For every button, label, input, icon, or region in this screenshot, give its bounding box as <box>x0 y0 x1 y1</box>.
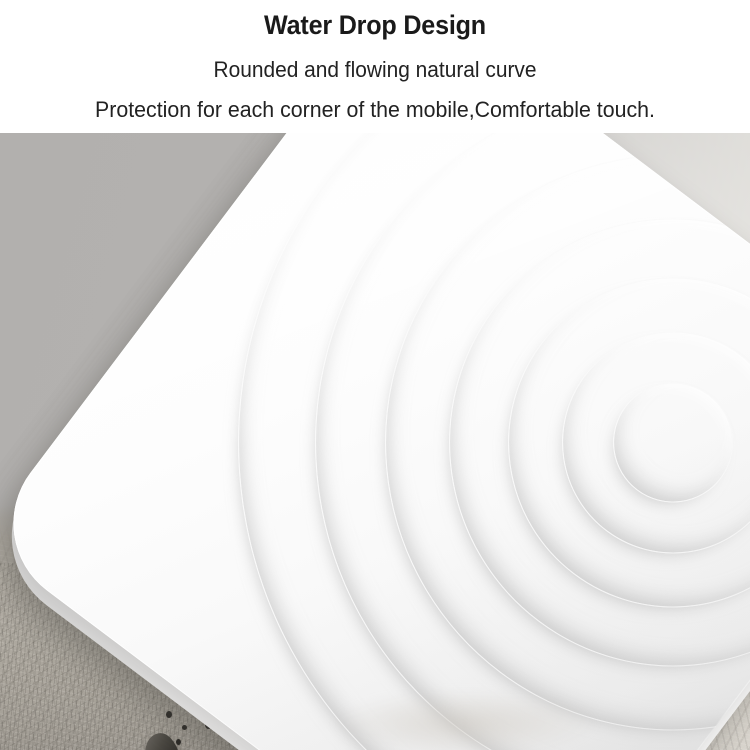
case-gloss-sheen <box>0 133 750 750</box>
case-edge-shading <box>0 133 750 750</box>
ripple-ring-1 <box>589 358 750 526</box>
product-marketing-image: Water Drop Design Rounded and flowing na… <box>0 0 750 750</box>
ripple-ring-5 <box>270 133 750 750</box>
ripple-ring-6 <box>172 133 750 750</box>
product-photo-scene <box>0 133 750 750</box>
phone-case <box>0 133 750 750</box>
case-body <box>0 133 750 750</box>
page-title: Water Drop Design <box>26 10 724 41</box>
ripple-ring-3 <box>442 211 750 673</box>
ripple-ring-4 <box>359 133 750 750</box>
ripple-ring-2 <box>518 287 750 598</box>
header-text-block: Water Drop Design Rounded and flowing na… <box>0 0 750 133</box>
subtitle-line-1: Rounded and flowing natural curve <box>19 57 732 83</box>
ripple-ring-7 <box>64 133 750 750</box>
dust-puff <box>300 678 630 750</box>
subtitle-line-2: Protection for each corner of the mobile… <box>11 97 739 123</box>
